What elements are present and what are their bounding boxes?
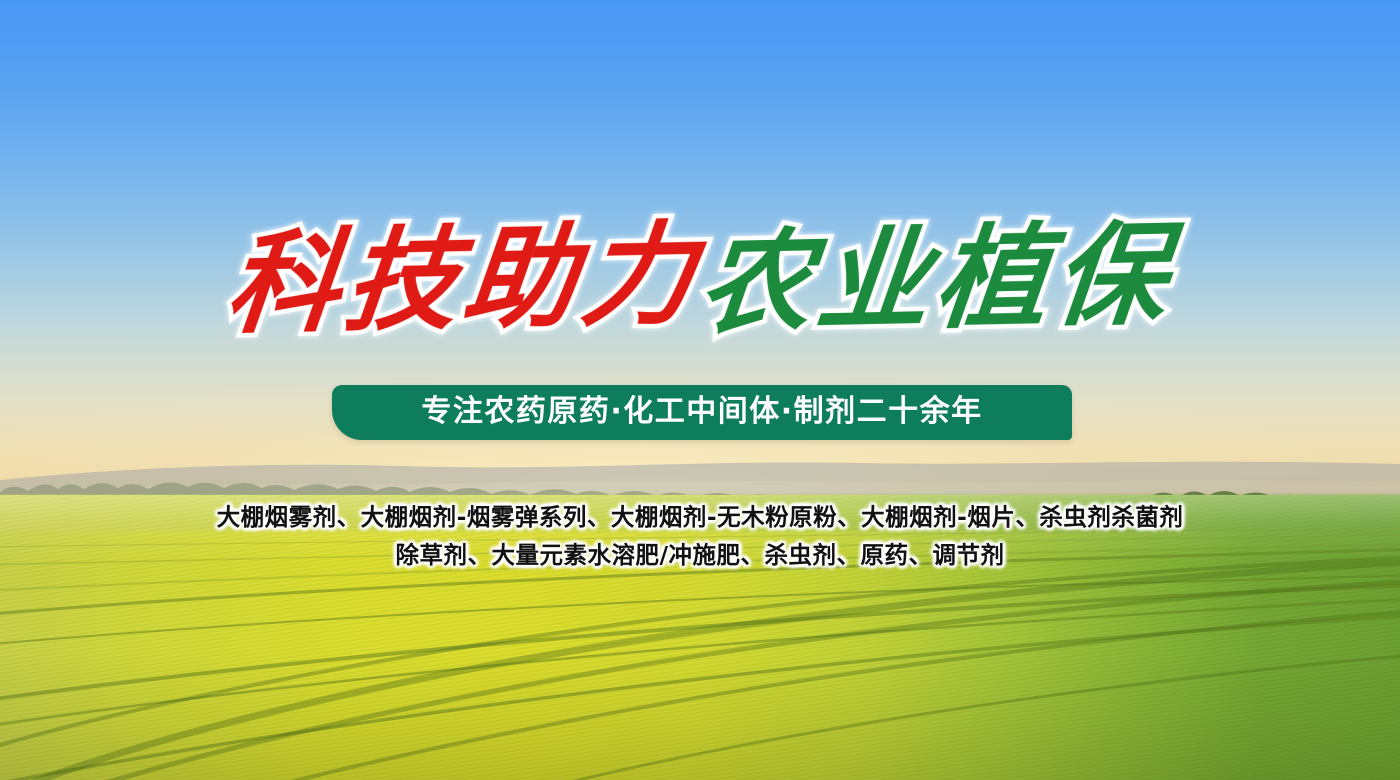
page-title: 科技助力农业植保 — [0, 205, 1400, 355]
subtitle-text: 专注农药原药·化工中间体·制剂二十余年 — [421, 397, 982, 429]
subtitle-banner: 专注农药原药·化工中间体·制剂二十余年 — [332, 385, 1072, 440]
product-line-1: 大棚烟雾剂、大棚烟剂-烟雾弹系列、大棚烟剂-无木粉原粉、大棚烟剂-烟片、杀虫剂杀… — [0, 498, 1400, 536]
product-list: 大棚烟雾剂、大棚烟剂-烟雾弹系列、大棚烟剂-无木粉原粉、大棚烟剂-烟片、杀虫剂杀… — [0, 498, 1400, 574]
headline-green-text: 农业植保 — [692, 200, 1180, 360]
headline-red-text: 科技助力 — [220, 200, 708, 360]
hero-banner: 科技助力农业植保 专注农药原药·化工中间体·制剂二十余年 大棚烟雾剂、大棚烟剂-… — [0, 0, 1400, 780]
product-line-2: 除草剂、大量元素水溶肥/冲施肥、杀虫剂、原药、调节剂 — [0, 536, 1400, 574]
